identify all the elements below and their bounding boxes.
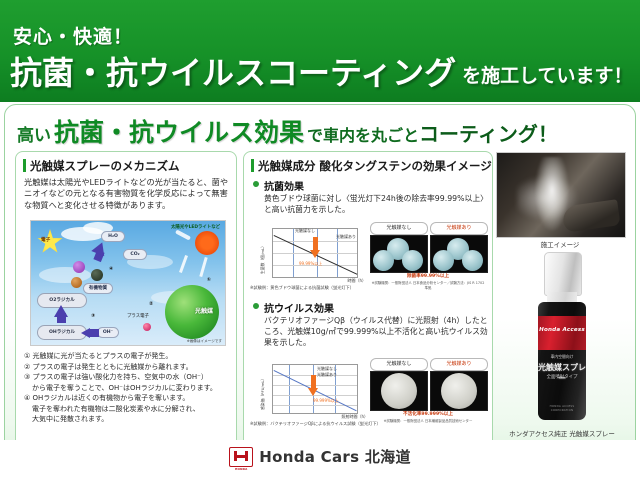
dish-caption: 除菌率99.99%以上 xyxy=(370,273,486,279)
mechanism-note-6: 電子を奪われた有機物は二酸化炭素や水に分解され、 xyxy=(24,404,230,415)
petri-dish-treated xyxy=(430,235,488,273)
bottle-footer-text: HONDA ACCESS CORPORATION xyxy=(538,404,586,412)
bottle-cap xyxy=(544,252,582,296)
molecule-dot xyxy=(91,269,103,281)
antibacterial-body: 黄色ブドウ球菌に対し〈蛍光灯下24h後の除去率99.99%以上〉と高い抗菌力を示… xyxy=(264,193,486,215)
dish-label-control: 光触媒なし xyxy=(370,222,428,235)
antiviral-graph: 99.999%以上 光触媒なし 光触媒あり 感染価（PFU/mL） 照射時間（h… xyxy=(250,360,368,426)
mechanism-notes: ① 光触媒に光が当たるとプラスの電子が発生。 ② プラスの電子は発生とともに光触… xyxy=(24,351,230,425)
spray-photo-caption: 施工イメージ xyxy=(496,239,624,249)
effect-panel-title: 光触媒成分 酸化タングステンの効果イメージ xyxy=(251,158,486,174)
graph-frame: 99.999%以上 光触媒なし 光触媒あり xyxy=(272,364,358,414)
led-icon xyxy=(195,231,219,255)
graph-arrow-head xyxy=(310,250,320,258)
subheadline-part1: 高い xyxy=(17,126,51,146)
honda-logo-word: HONDA xyxy=(230,467,252,471)
light-ray xyxy=(179,255,188,273)
graph-legend-2: 光触媒あり xyxy=(336,234,356,240)
footer-brand: HONDAHonda Cars 北海道 xyxy=(0,446,640,467)
mechanism-intro-text: 光触媒は太陽光やLEDライトなどの光が当たると、菌やニオイなどの元となる有害物質… xyxy=(24,177,229,211)
reaction-arrow-stem xyxy=(89,329,99,337)
page-title-main: 抗菌・抗ウイルスコーティング xyxy=(10,54,456,92)
dish-caption: 不活化率99.999%以上 xyxy=(370,411,486,417)
oh-radical-label: OHラジカル xyxy=(37,325,87,340)
bottle-body: Honda Access 車内空間向け 光触媒スプレー 全面噴射タイプ HOND… xyxy=(538,302,586,420)
molecule-dot xyxy=(73,261,85,273)
mechanism-note-5: ④ OHラジカルは近くの有機物から電子を奪います。 xyxy=(24,393,230,404)
bottle-red-band xyxy=(538,316,586,350)
mechanism-note-1: ① 光触媒に光が当たるとプラスの電子が発生。 xyxy=(24,351,230,362)
electron-dot xyxy=(143,323,151,331)
h2o-label: H₂O xyxy=(101,231,125,242)
co2-label: CO₂ xyxy=(123,249,147,260)
dish-footnote: ※試験機関：一般財団法人 日本食品分析センター／試験方法：JIS R 1702 … xyxy=(370,281,486,291)
subheadline-part2: 抗菌・抗ウイルス効果 xyxy=(51,118,307,147)
graph-frame: 99.99%以上 光触媒なし 光触媒あり xyxy=(272,228,358,278)
colony xyxy=(462,250,483,271)
mechanism-note-3: ③ プラスの電子は強い酸化力を持ち、空気中の水（OH⁻） xyxy=(24,372,230,383)
graph-arrow-stem xyxy=(313,237,318,251)
page-footer: HONDAHonda Cars 北海道 xyxy=(0,440,640,480)
mechanism-note-7: 大気中に発散されます。 xyxy=(24,414,230,425)
diagram-step-1: ① xyxy=(207,277,211,283)
bottle-type-label: 全面噴射タイプ xyxy=(538,374,586,380)
light-source-label: 太陽光やLEDライトなど xyxy=(171,224,220,230)
bottle-product-name: 光触媒スプレー xyxy=(538,362,586,384)
page-header: 安心・快適！ 抗菌・抗ウイルスコーティングを施工しています！ xyxy=(0,0,640,102)
mechanism-note-4: から電子を奪うことで、OH⁻はOHラジカルに変わります。 xyxy=(24,383,230,394)
diagram-step-3: ③ xyxy=(91,313,95,319)
sun-label: 電子 xyxy=(41,237,50,243)
dish-footnote: ※試験機関：一般財団法人 日本繊維製品品質技術センター xyxy=(370,419,486,424)
graph-x-label: 照射時間（h） xyxy=(341,414,368,420)
reaction-arrow-head xyxy=(81,328,90,338)
bottle-brand-label: Honda Access xyxy=(538,327,586,333)
molecule-dot xyxy=(71,277,82,288)
antiviral-dish-figure: 光触媒なし 光触媒あり 不活化率99.999%以上 ※試験機関：一般財団法人 日… xyxy=(370,358,490,426)
product-bottle: Honda Access 車内空間向け 光触媒スプレー 全面噴射タイプ HOND… xyxy=(536,252,588,424)
subheadline-part3: で車内を丸ごと xyxy=(307,126,419,145)
subheadline-part4: コーティング！ xyxy=(419,122,558,146)
diagram-step-4: ④ xyxy=(109,266,113,272)
mechanism-panel-title: 光触媒スプレーのメカニズム xyxy=(23,158,230,174)
diagram-step-2: ② xyxy=(149,301,153,307)
graph-caption: ※試験例：黄色ブドウ球菌による抗菌試験（蛍光灯下） xyxy=(250,285,354,291)
antibacterial-dish-figure: 光触媒なし 光触媒あり 除菌率99.99%以上 ※試験機関：一般財団法人 日本食… xyxy=(370,222,490,290)
honda-logo-bar xyxy=(234,455,245,458)
graph-x-label: 時間（h） xyxy=(347,278,366,284)
mechanism-note-2: ② プラスの電子は発生とともに光触媒から離れます。 xyxy=(24,362,230,373)
dish-label-control: 光触媒なし xyxy=(370,358,428,371)
light-ray xyxy=(175,229,191,240)
effect-panel: 光触媒成分 酸化タングステンの効果イメージ 抗菌効果 黄色ブドウ球菌に対し〈蛍光… xyxy=(243,151,493,465)
graph-note: 99.99%以上 xyxy=(299,261,322,267)
graph-legend-1: 光触媒なし xyxy=(295,228,315,234)
photocatalyst-diagram: 電子 太陽光やLEDライトなど ① H₂O CO₂ ④ 有機物質 xyxy=(30,220,226,346)
antiviral-body: バクテリオファージQβ（ウイルス代替）に光照射（4h）したところ、光触媒10g/… xyxy=(264,315,488,348)
petri-dish-control xyxy=(370,371,428,411)
graph-arrow-head xyxy=(308,388,318,396)
diagram-credit: ※画像はイメージです xyxy=(187,339,222,344)
colony xyxy=(402,250,423,271)
oh-minus-label: OH⁻ xyxy=(97,327,119,338)
antibacterial-graph: 99.99%以上 光触媒なし 光触媒あり 生菌数（個/mL） 時間（h） ※試験… xyxy=(250,224,368,290)
graph-y-label: 生菌数（個/mL） xyxy=(260,244,266,274)
colony xyxy=(441,373,477,409)
colony xyxy=(373,250,394,271)
bottle-caption: ホンダアクセス純正 光触媒スプレー xyxy=(492,428,632,438)
graph-caption: ※試験例：バクテリオファージQβによる抗ウイルス試験（蛍光灯下） xyxy=(250,421,381,427)
petri-dish-control xyxy=(370,235,428,273)
graph-arrow-stem xyxy=(311,375,316,389)
advertisement-page: 安心・快適！ 抗菌・抗ウイルスコーティングを施工しています！ 高い抗菌・抗ウイル… xyxy=(0,0,640,480)
graph-y-label: 感染価（PFU/mL） xyxy=(260,377,266,410)
header-kicker: 安心・快適！ xyxy=(13,22,133,49)
subheadline: 高い抗菌・抗ウイルス効果で車内を丸ごとコーティング！ xyxy=(17,113,629,147)
photocatalyst-label: 光触媒 xyxy=(195,306,213,315)
petri-dish-treated xyxy=(430,371,488,411)
antibacterial-heading: 抗菌効果 xyxy=(253,178,304,193)
mechanism-panel: 光触媒スプレーのメカニズム 光触媒は太陽光やLEDライトなどの光が当たると、菌や… xyxy=(15,151,237,465)
graph-legend-2: 光触媒あり xyxy=(317,372,337,378)
colony xyxy=(381,373,417,409)
organic-label: 有機物質 xyxy=(83,283,113,294)
antiviral-heading: 抗ウイルス効果 xyxy=(253,300,334,315)
page-title-tail: を施工しています！ xyxy=(456,65,632,87)
spray-application-photo xyxy=(496,152,626,238)
footer-dealer-name: Honda Cars 北海道 xyxy=(259,446,411,467)
dish-label-treated: 光触媒あり xyxy=(430,222,488,235)
reaction-arrow-head xyxy=(91,240,108,256)
reaction-arrow-head xyxy=(54,305,68,317)
light-ray xyxy=(199,257,207,277)
bottle-sub-label: 車内空間向け xyxy=(538,354,586,360)
page-title: 抗菌・抗ウイルスコーティングを施工しています！ xyxy=(10,48,633,94)
colony xyxy=(433,250,454,271)
graph-note: 99.999%以上 xyxy=(313,398,339,404)
honda-logo-icon: HONDA xyxy=(229,447,253,467)
plus-electron-label: プラス電子 xyxy=(127,313,149,319)
dish-label-treated: 光触媒あり xyxy=(430,358,488,371)
